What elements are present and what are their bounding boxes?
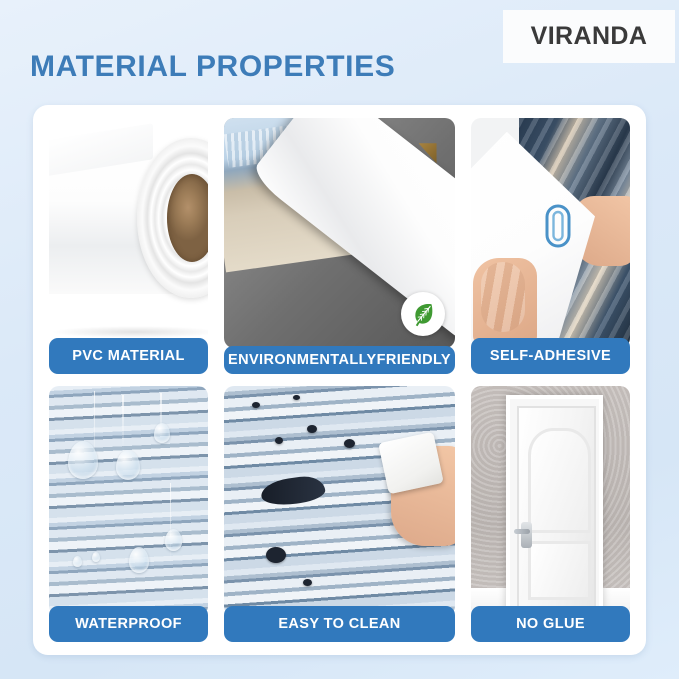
dark-spot xyxy=(252,402,260,408)
pvc-roll-illustration xyxy=(49,118,208,348)
water-streak xyxy=(122,395,124,450)
eco-badge xyxy=(401,292,445,336)
card-image-waterproof xyxy=(49,386,208,616)
card-label-environmentally-friendly: ENVIRONMENTALLY FRIENDLY xyxy=(224,346,455,374)
cards-grid: PVC MATERIAL xyxy=(49,118,630,642)
water-droplet xyxy=(73,556,82,567)
water-droplet xyxy=(165,529,182,551)
card-easy-to-clean: EASY TO CLEAN xyxy=(224,386,455,642)
card-self-adhesive: SELF-ADHESIVE xyxy=(471,118,630,374)
left-hand xyxy=(473,258,537,344)
water-droplet xyxy=(116,450,140,480)
water-droplet xyxy=(92,552,100,562)
label-line-2: FRIENDLY xyxy=(377,352,451,368)
door-panel-top xyxy=(528,428,591,533)
door-panel-bottom xyxy=(528,541,591,600)
card-image-environmentally-friendly xyxy=(224,118,455,348)
card-image-easy-to-clean xyxy=(224,386,455,616)
roll-shadow xyxy=(51,326,208,338)
leaf-icon xyxy=(409,300,437,328)
card-label-waterproof: WATERPROOF xyxy=(49,606,208,642)
cleaning-cloth xyxy=(378,431,444,494)
brand-logo: VIRANDA xyxy=(503,10,675,63)
brand-logo-text: VIRANDA xyxy=(531,22,648,51)
cards-panel: PVC MATERIAL xyxy=(33,105,646,655)
card-label-self-adhesive: SELF-ADHESIVE xyxy=(471,338,630,374)
waterproof-surface xyxy=(49,386,208,616)
water-streak xyxy=(170,483,172,566)
card-environmentally-friendly: ENVIRONMENTALLY FRIENDLY xyxy=(224,118,455,374)
water-droplet xyxy=(154,423,170,443)
dark-spot xyxy=(275,437,283,444)
dark-spot xyxy=(303,579,312,586)
card-label-easy-to-clean: EASY TO CLEAN xyxy=(224,606,455,642)
card-label-no-glue: NO GLUE xyxy=(471,606,630,642)
infographic-root: VIRANDA MATERIAL PROPERTIES PVC MATERIAL xyxy=(0,0,679,679)
card-pvc-material: PVC MATERIAL xyxy=(49,118,208,374)
card-image-pvc-material xyxy=(49,118,208,348)
white-door xyxy=(517,406,596,615)
water-droplet xyxy=(129,547,149,573)
door-handle xyxy=(521,522,532,548)
dark-spot xyxy=(344,439,355,448)
card-waterproof: WATERPROOF xyxy=(49,386,208,642)
paperclip-icon xyxy=(543,203,573,249)
card-image-no-glue xyxy=(471,386,630,616)
dark-spot xyxy=(266,547,286,563)
clip-wrapper xyxy=(543,203,573,254)
door-frame xyxy=(506,395,603,611)
page-title: MATERIAL PROPERTIES xyxy=(30,50,395,84)
water-droplet xyxy=(68,441,98,479)
card-image-self-adhesive xyxy=(471,118,630,348)
label-line-1: ENVIRONMENTALLY xyxy=(228,352,377,368)
card-no-glue: NO GLUE xyxy=(471,386,630,642)
card-label-pvc-material: PVC MATERIAL xyxy=(49,338,208,374)
